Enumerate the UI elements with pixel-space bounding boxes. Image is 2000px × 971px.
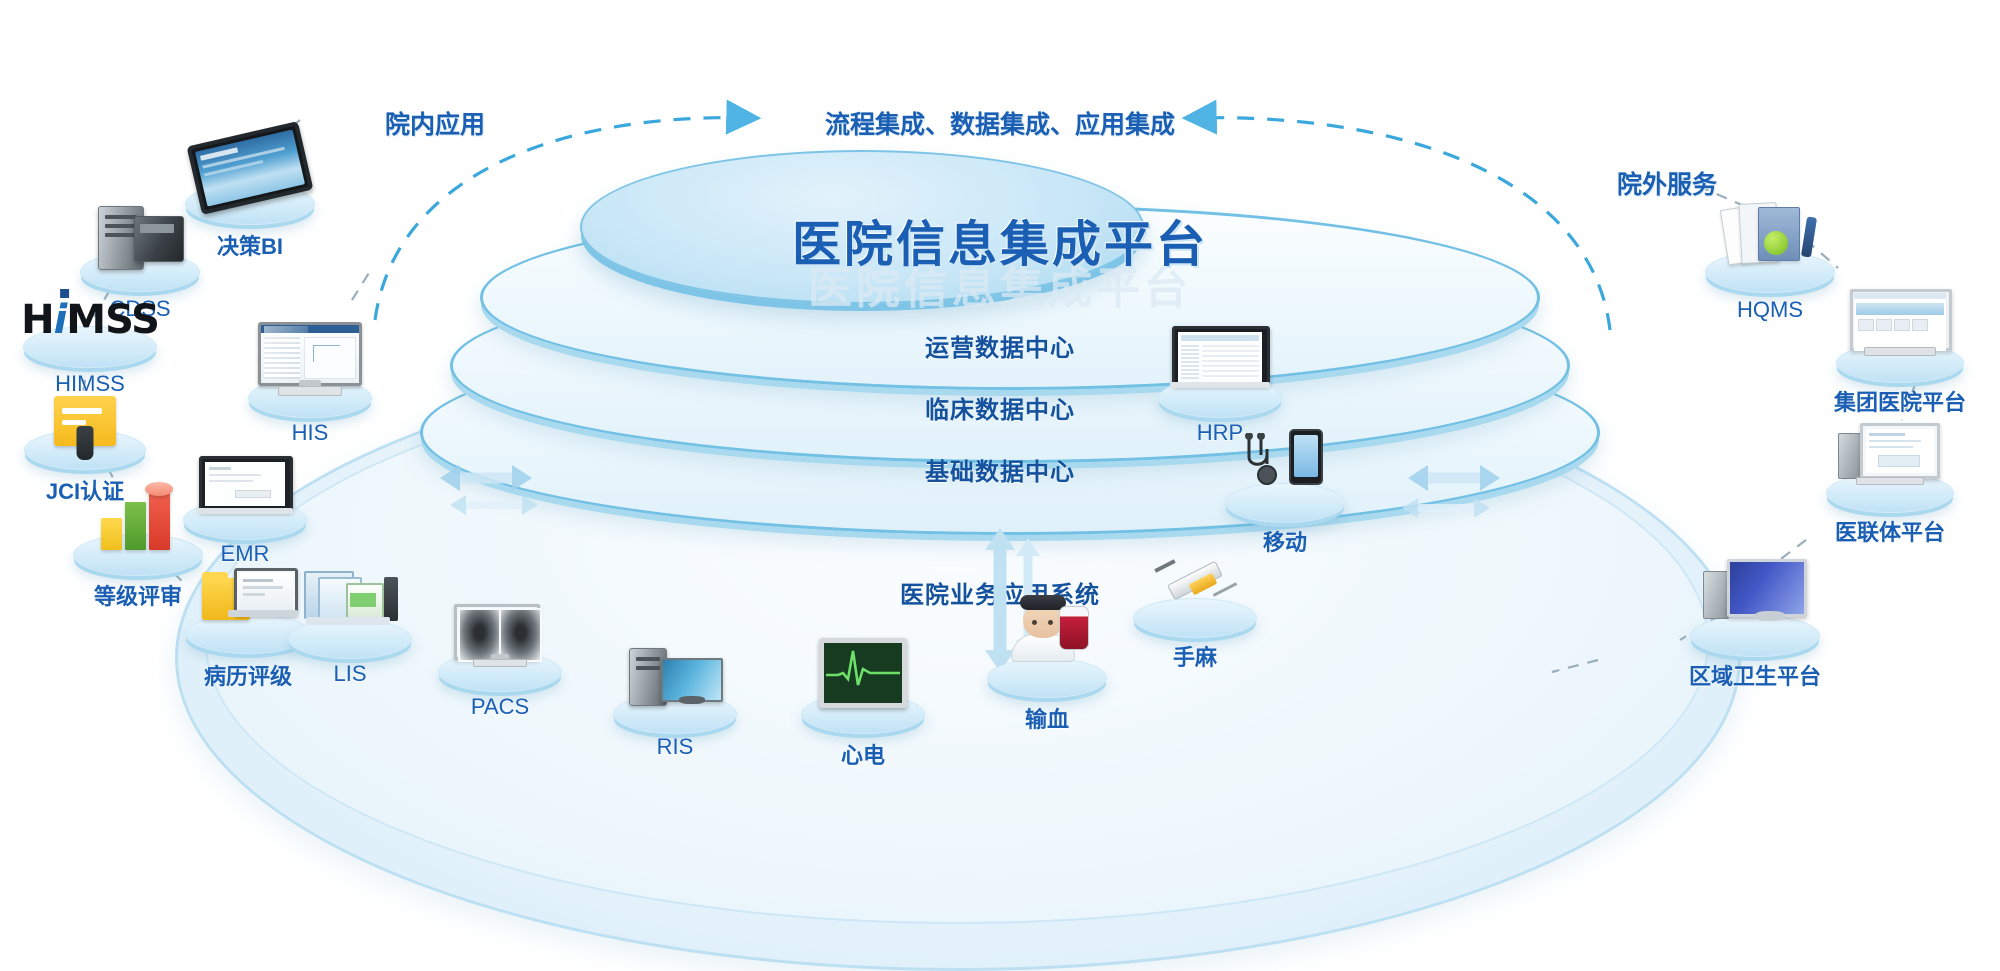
- server-monitor-icon: [627, 644, 723, 706]
- node-emr[interactable]: EMR: [160, 448, 330, 578]
- node-transfusion[interactable]: 输血: [962, 600, 1132, 730]
- desktop-portal-icon: [1850, 287, 1950, 355]
- node-label: 区域卫生平台: [1689, 659, 1821, 691]
- node-group-hospital-platform[interactable]: 集团医院平台: [1800, 285, 2000, 420]
- node-label: 集团医院平台: [1834, 385, 1966, 417]
- node-hrp[interactable]: HRP: [1135, 320, 1305, 450]
- node-anesthesia[interactable]: 手麻: [1110, 540, 1280, 670]
- node-his[interactable]: HIS: [225, 320, 395, 450]
- xray-monitor-icon: [454, 602, 546, 666]
- ecg-monitor-icon: [819, 642, 907, 708]
- document-stack-icon: [1724, 195, 1816, 267]
- desktop-network-icon: [1838, 417, 1942, 485]
- lab-analyzer-icon: [302, 567, 398, 633]
- node-label: 医联体平台: [1835, 515, 1945, 547]
- node-label: EMR: [221, 541, 270, 567]
- node-label: LIS: [333, 661, 366, 687]
- core-taps: [352, 268, 372, 300]
- node-ecg[interactable]: 心电: [778, 638, 948, 768]
- node-label: 心电: [841, 738, 885, 770]
- platform-top-disc: [580, 150, 1144, 304]
- node-lis[interactable]: LIS: [265, 565, 435, 695]
- node-pacs[interactable]: PACS: [415, 598, 585, 728]
- desktop-blue-icon: [1703, 555, 1807, 627]
- server-tower-icon: [92, 200, 188, 270]
- node-label: RIS: [657, 734, 694, 760]
- node-label: PACS: [471, 694, 529, 720]
- node-regional-health-platform[interactable]: 区域卫生平台: [1655, 555, 1855, 695]
- himss-logo-icon: HiMSS: [21, 284, 159, 340]
- tablet-dashboard-icon: [193, 139, 307, 203]
- node-label: 输血: [1025, 702, 1069, 734]
- blood-transfusion-icon: [999, 600, 1095, 678]
- node-label: HQMS: [1737, 297, 1803, 323]
- section-heading-inner: 院内应用: [385, 105, 485, 141]
- laptop-icon: [199, 452, 291, 516]
- laptop-chart-icon: [1172, 322, 1268, 390]
- diagram-canvas: 医院信息集成平台 医院信息集成平台 运营数据中心 临床数据中心 基础数据中心 医…: [0, 0, 2000, 955]
- syringe-icon: [1152, 546, 1238, 608]
- node-label: 手麻: [1173, 640, 1217, 672]
- node-label: HRP: [1197, 420, 1243, 446]
- node-label: 决策BI: [217, 229, 283, 261]
- desktop-monitor-icon: [258, 320, 362, 394]
- certificate-seal-icon: [54, 384, 116, 446]
- node-label: HIS: [292, 420, 329, 446]
- node-alliance-platform[interactable]: 医联体平台: [1790, 415, 1990, 550]
- node-ris[interactable]: RIS: [590, 640, 760, 770]
- node-label: 移动: [1263, 525, 1307, 557]
